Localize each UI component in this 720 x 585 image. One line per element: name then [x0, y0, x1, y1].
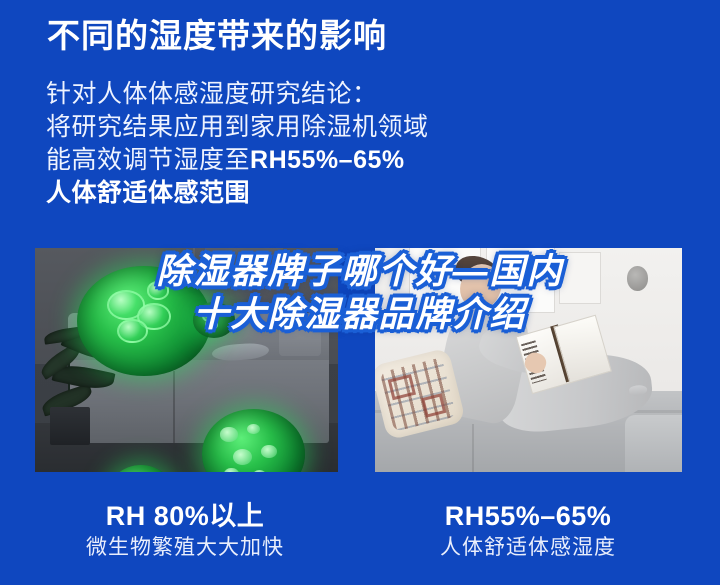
microbe-cell — [147, 281, 170, 299]
caption-right: RH55%–65% 人体舒适体感湿度 — [368, 500, 688, 563]
microbe-dot — [224, 468, 238, 472]
microbe-dot — [253, 470, 265, 472]
caption-right-value: RH55%–65% — [368, 500, 688, 533]
intro-paragraph: 针对人体体感湿度研究结论： 将研究结果应用到家用除湿机领域 能高效调节湿度至RH… — [46, 78, 429, 210]
microbe-cluster-large — [77, 266, 210, 376]
microbe-dot — [233, 449, 253, 465]
caption-right-description: 人体舒适体感湿度 — [368, 533, 688, 563]
humidity-infographic-poster: 不同的湿度带来的影响 针对人体体感湿度研究结论： 将研究结果应用到家用除湿机领域… — [0, 0, 720, 585]
microbe-cluster-small — [193, 302, 235, 338]
intro-line-3: 能高效调节湿度至RH55%–65% — [46, 144, 429, 177]
person-foot — [628, 384, 647, 396]
microbe-cell — [205, 319, 217, 330]
intro-line-3-range: RH55%–65% — [250, 146, 405, 174]
wall-panel — [205, 248, 284, 280]
caption-left: RH 80%以上 微生物繁殖大大加快 — [25, 500, 345, 563]
photo-comfort-room — [375, 248, 682, 472]
microbe-dot — [220, 427, 238, 441]
sofa-cushion — [279, 321, 321, 356]
microbe-dot — [247, 424, 260, 435]
intro-line-4: 人体舒适体感范围 — [46, 177, 429, 210]
microbe-cell — [117, 319, 148, 344]
caption-left-value: RH 80%以上 — [25, 500, 345, 533]
sofa-seam — [173, 371, 175, 443]
intro-line-3-text: 能高效调节湿度至 — [46, 146, 250, 174]
intro-line-2: 将研究结果应用到家用除湿机领域 — [46, 111, 429, 144]
intro-line-1: 针对人体体感湿度研究结论： — [46, 78, 429, 111]
page-title: 不同的湿度带来的影响 — [47, 16, 387, 56]
plant-pot — [50, 407, 89, 445]
bright-room-scene — [375, 248, 682, 472]
photo-mold-room — [35, 248, 338, 472]
dark-room-scene — [35, 248, 338, 472]
microbe-dot — [261, 445, 276, 458]
caption-left-description: 微生物繁殖大大加快 — [25, 533, 345, 563]
